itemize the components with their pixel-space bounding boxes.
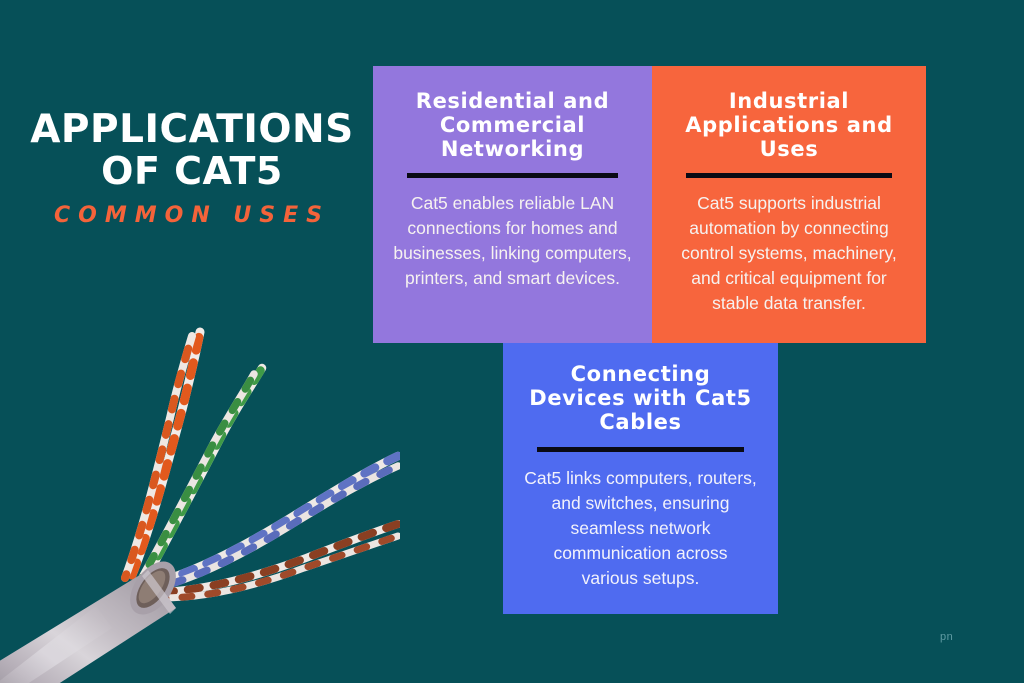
cable-jacket bbox=[0, 553, 185, 683]
card-body: Cat5 supports industrial automation by c… bbox=[672, 191, 906, 316]
page-title-line-1: APPLICATIONS bbox=[22, 110, 362, 150]
card-heading: Residential and Commercial Networking bbox=[393, 90, 632, 162]
card-residential-commercial-networking[interactable]: Residential and Commercial Networking Ca… bbox=[373, 66, 652, 343]
card-heading: Connecting Devices with Cat5 Cables bbox=[523, 363, 758, 435]
card-divider bbox=[537, 447, 744, 452]
watermark-text: pn bbox=[940, 631, 953, 643]
card-divider bbox=[407, 173, 617, 178]
page-subtitle: COMMON USES bbox=[22, 203, 362, 228]
card-body: Cat5 enables reliable LAN connections fo… bbox=[393, 191, 632, 291]
card-industrial-applications-uses[interactable]: Industrial Applications and Uses Cat5 su… bbox=[652, 66, 926, 343]
infographic-canvas: APPLICATIONS OF CAT5 COMMON USES Residen… bbox=[0, 0, 1024, 683]
title-block: APPLICATIONS OF CAT5 COMMON USES bbox=[22, 110, 362, 228]
card-body: Cat5 links computers, routers, and switc… bbox=[523, 466, 758, 591]
page-title-line-2: OF CAT5 bbox=[22, 152, 362, 191]
card-divider bbox=[686, 173, 892, 178]
card-heading: Industrial Applications and Uses bbox=[672, 90, 906, 162]
card-connecting-devices-with-cat5-cables[interactable]: Connecting Devices with Cat5 Cables Cat5… bbox=[503, 343, 778, 614]
cat5-cable-photo bbox=[0, 270, 400, 683]
